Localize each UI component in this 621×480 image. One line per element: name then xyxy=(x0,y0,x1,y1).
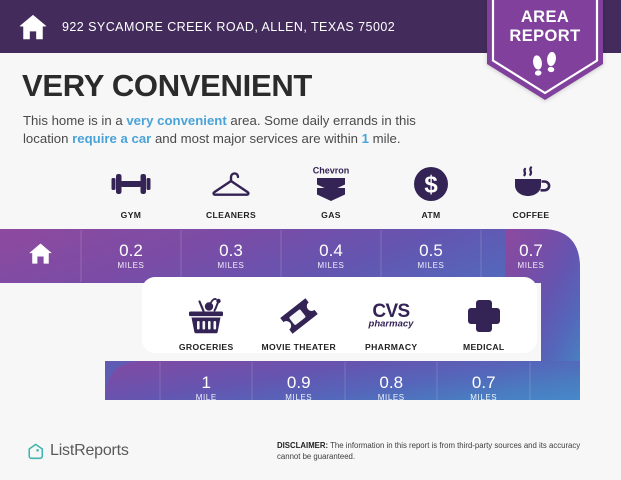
summary-part-4: mile. xyxy=(369,131,401,146)
distance-value: 0.4 xyxy=(319,241,343,260)
distance-unit: MILES xyxy=(285,393,312,402)
distance-cell-movie-theater: 0.9 MILES xyxy=(253,361,346,413)
distance-value: 1 xyxy=(202,373,211,392)
summary-highlight-distance: 1 xyxy=(362,131,369,146)
distance-unit: MILES xyxy=(378,393,405,402)
distance-cell-groceries: 1 MILE xyxy=(160,361,253,413)
coffee-cup-icon xyxy=(511,163,551,205)
area-report-badge: AREA REPORT xyxy=(487,0,603,106)
medical-cross-icon xyxy=(467,295,501,337)
amenity-groceries[interactable]: GROCERIES xyxy=(160,295,253,352)
distance-value: 0.8 xyxy=(379,373,403,392)
amenity-gym[interactable]: GYM xyxy=(81,163,181,220)
amenity-icon-row-1: GYM CLEANERS Chevron GAS $ ATM xyxy=(81,163,581,220)
svg-text:$: $ xyxy=(424,172,438,199)
amenity-medical[interactable]: MEDICAL xyxy=(438,295,531,352)
distance-value-row-1: 0.2 MILES 0.3 MILES 0.4 MILES 0.5 MILES … xyxy=(81,229,581,281)
amenity-label: GROCERIES xyxy=(179,342,234,352)
badge-line-1: AREA xyxy=(487,8,603,27)
amenity-label: COFFEE xyxy=(513,210,550,220)
distance-cell-medical: 0.7 MILES xyxy=(438,361,531,413)
disclaimer: DISCLAIMER: The information in this repo… xyxy=(277,441,589,462)
listreports-tag-icon xyxy=(27,443,44,460)
cvs-pharmacy-icon: CVS pharmacy xyxy=(365,295,417,337)
listreports-wordmark: ListReports xyxy=(50,442,129,460)
amenity-label: MEDICAL xyxy=(463,342,505,352)
footprints-icon xyxy=(529,52,561,78)
summary-highlight-car: require a car xyxy=(72,131,151,146)
amenity-pharmacy[interactable]: CVS pharmacy PHARMACY xyxy=(345,295,438,352)
distance-cell-pharmacy: 0.8 MILES xyxy=(345,361,438,413)
summary-text: This home is in a very convenient area. … xyxy=(23,112,443,148)
distance-unit: MILES xyxy=(117,261,144,270)
amenity-label: GAS xyxy=(321,210,341,220)
chevron-logo-icon: Chevron xyxy=(308,163,354,205)
ribbon-home-icon xyxy=(27,240,54,267)
amenity-coffee[interactable]: COFFEE xyxy=(481,163,581,220)
distance-value: 0.7 xyxy=(519,241,543,260)
distance-cell-gym: 0.2 MILES xyxy=(81,229,181,281)
badge-title: AREA REPORT xyxy=(487,8,603,46)
amenity-movie-theater[interactable]: MOVIE THEATER xyxy=(253,295,346,352)
listreports-logo[interactable]: ListReports xyxy=(27,442,129,460)
distance-cell-coffee: 0.7 MILES xyxy=(481,229,581,281)
distance-unit: MILES xyxy=(317,261,344,270)
distance-unit: MILES xyxy=(517,261,544,270)
distance-unit: MILES xyxy=(417,261,444,270)
summary-highlight-convenience: very convenient xyxy=(126,113,226,128)
distance-value: 0.2 xyxy=(119,241,143,260)
distance-value-row-2: 1 MILE 0.9 MILES 0.8 MILES 0.7 MILES xyxy=(160,361,530,413)
amenity-label: GYM xyxy=(121,210,142,220)
summary-part-1: This home is in a xyxy=(23,113,126,128)
hanger-icon xyxy=(211,163,251,205)
amenity-label: ATM xyxy=(421,210,440,220)
summary-part-3: and most major services are within xyxy=(151,131,361,146)
amenity-cleaners[interactable]: CLEANERS xyxy=(181,163,281,220)
ticket-icon xyxy=(279,295,319,337)
page-title: VERY CONVENIENT xyxy=(22,68,312,104)
grocery-basket-icon xyxy=(186,295,226,337)
distance-value: 0.5 xyxy=(419,241,443,260)
property-address: 922 SYCAMORE CREEK ROAD, ALLEN, TEXAS 75… xyxy=(62,20,395,34)
distance-unit: MILES xyxy=(470,393,497,402)
distance-cell-gas: 0.4 MILES xyxy=(281,229,381,281)
chevron-wordmark: Chevron xyxy=(313,166,350,176)
distance-unit: MILE xyxy=(196,393,217,402)
home-icon xyxy=(18,12,48,42)
dollar-coin-icon: $ xyxy=(413,163,449,205)
amenity-label: MOVIE THEATER xyxy=(261,342,336,352)
distance-value: 0.7 xyxy=(472,373,496,392)
distance-unit: MILES xyxy=(217,261,244,270)
distance-cell-atm: 0.5 MILES xyxy=(381,229,481,281)
cvs-sub-wordmark: pharmacy xyxy=(368,319,415,330)
badge-line-2: REPORT xyxy=(487,27,603,46)
amenity-label: CLEANERS xyxy=(206,210,256,220)
distance-cell-cleaners: 0.3 MILES xyxy=(181,229,281,281)
disclaimer-label: DISCLAIMER: xyxy=(277,441,328,450)
amenity-gas[interactable]: Chevron GAS xyxy=(281,163,381,220)
dumbbell-icon xyxy=(111,163,151,205)
distance-value: 0.9 xyxy=(287,373,311,392)
amenity-atm[interactable]: $ ATM xyxy=(381,163,481,220)
amenity-label: PHARMACY xyxy=(365,342,417,352)
amenity-icon-row-2: GROCERIES MOVIE THEATER CVS pharmacy PHA… xyxy=(160,295,530,352)
distance-value: 0.3 xyxy=(219,241,243,260)
